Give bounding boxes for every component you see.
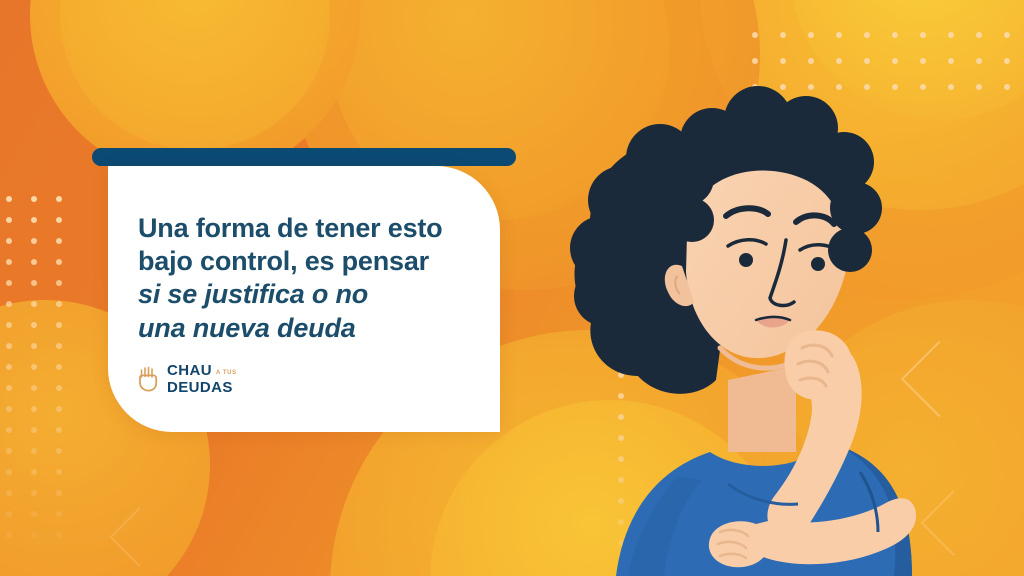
headline-italic-line-1: si se justifica o no bbox=[138, 278, 478, 311]
headline-line-1: Una forma de tener esto bbox=[138, 213, 442, 243]
logo-tagline: A TUS bbox=[216, 370, 237, 378]
headline-italic-line-2: una nueva deuda bbox=[138, 312, 478, 345]
headline-line-2: bajo control, es pensar bbox=[138, 246, 429, 276]
card-accent-bar bbox=[92, 148, 516, 166]
quote-card: Una forma de tener esto bajo control, es… bbox=[108, 166, 500, 432]
thinking-woman-illustration bbox=[560, 80, 980, 576]
open-hand-icon bbox=[138, 366, 160, 392]
logo-deudas: DEUDAS bbox=[167, 380, 237, 395]
brand-logo: CHAU A TUS DEUDAS bbox=[138, 363, 478, 395]
logo-wordmark: CHAU A TUS DEUDAS bbox=[167, 363, 237, 395]
headline: Una forma de tener esto bajo control, es… bbox=[138, 212, 478, 345]
logo-chau: CHAU bbox=[167, 363, 212, 378]
hand-palm-shape bbox=[140, 375, 156, 390]
promo-graphic: Una forma de tener esto bajo control, es… bbox=[0, 0, 1024, 576]
